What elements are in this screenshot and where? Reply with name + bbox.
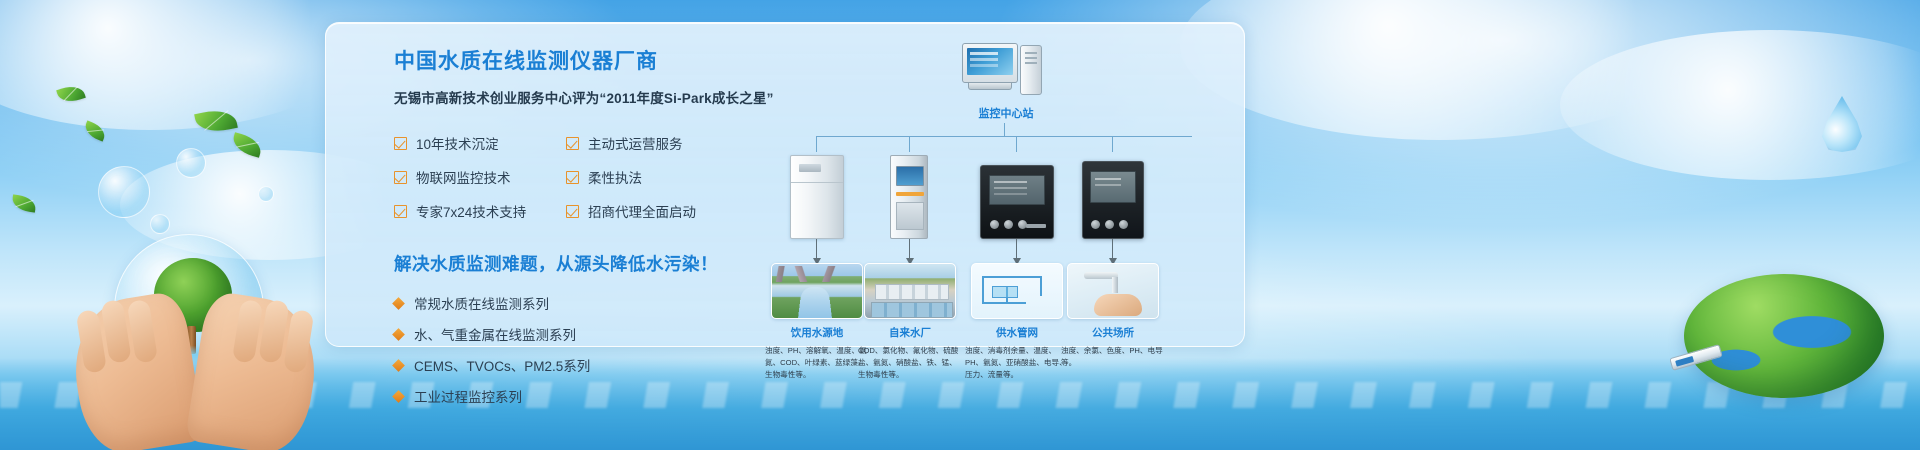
leaf-icon — [230, 132, 264, 158]
rack-analyzer-device — [890, 155, 928, 239]
connector-line — [909, 136, 910, 152]
scene-description: COD、氯化物、氟化物、硫酸盐、氨氮、硝酸盐、铁、锰、生物毒性等。 — [858, 345, 962, 380]
diamond-bullet-icon — [392, 297, 405, 310]
checklist-item-label: 10年技术沉淀 — [416, 133, 499, 153]
down-arrow-icon — [1016, 239, 1017, 259]
checklist-item: 10年技术沉淀 — [394, 133, 566, 153]
down-arrow-icon — [1112, 239, 1113, 259]
tap-water-thumbnail — [1067, 263, 1159, 319]
monitor-screen-decor — [967, 48, 1013, 76]
pipe-network-thumbnail — [971, 263, 1063, 319]
bubble-decor — [176, 148, 206, 178]
checklist-item-label: 主动式运营服务 — [588, 133, 683, 153]
list-item: 水、气重金属在线监测系列 — [394, 324, 784, 344]
wide-controller-device — [980, 165, 1054, 239]
connector-line — [1112, 136, 1113, 152]
check-box-icon — [566, 171, 579, 184]
right-hand-illustration — [185, 290, 325, 450]
banner-text-column: 中国水质在线监测仪器厂商 无锡市高新技术创业服务中心评为“2011年度Si-Pa… — [394, 45, 784, 417]
page-title: 中国水质在线监测仪器厂商 — [394, 45, 784, 75]
monitor-stand-decor — [968, 83, 1012, 90]
cloud-decor — [0, 0, 360, 130]
leaf-icon — [194, 106, 238, 136]
connector-line — [1016, 136, 1017, 152]
list-item: CEMS、TVOCs、PM2.5系列 — [394, 355, 784, 375]
scene-description: 浊度、消毒剂余量、温度、PH、氨氮、亚硝酸盐、电导、压力、流量等。 — [965, 345, 1069, 380]
pc-tower-decor — [1020, 45, 1042, 95]
checklist-item: 主动式运营服务 — [566, 133, 766, 153]
scene-card[interactable]: 饮用水源地 浊度、PH、溶解氧、温度、氨氮、COD、叶绿素、蓝绿藻、生物毒性等。 — [771, 263, 863, 380]
check-box-icon — [394, 137, 407, 150]
check-box-icon — [566, 137, 579, 150]
list-item-label: 工业过程监控系列 — [414, 386, 522, 406]
checklist-item: 柔性执法 — [566, 167, 766, 187]
check-box-icon — [566, 205, 579, 218]
device-row — [766, 153, 1236, 239]
list-item-label: CEMS、TVOCs、PM2.5系列 — [414, 355, 590, 375]
check-box-icon — [394, 171, 407, 184]
checklist-item-label: 柔性执法 — [588, 167, 642, 187]
checklist-item: 物联网监控技术 — [394, 167, 566, 187]
scene-card[interactable]: 供水管网 浊度、消毒剂余量、温度、PH、氨氮、亚硝酸盐、电导、压力、流量等。 — [971, 263, 1063, 380]
water-quality-banner: 中国水质在线监测仪器厂商 无锡市高新技术创业服务中心评为“2011年度Si-Pa… — [0, 0, 1920, 450]
connector-line — [816, 136, 1192, 137]
monitor-decor — [962, 43, 1018, 83]
list-item: 常规水质在线监测系列 — [394, 293, 784, 313]
checklist-item: 招商代理全面启动 — [566, 201, 766, 221]
scene-card[interactable]: 自来水厂 COD、氯化物、氟化物、硫酸盐、氨氮、硝酸盐、铁、锰、生物毒性等。 — [864, 263, 956, 380]
list-item-label: 常规水质在线监测系列 — [414, 293, 549, 313]
scene-title: 自来水厂 — [864, 325, 956, 340]
product-series-list: 常规水质在线监测系列 水、气重金属在线监测系列 CEMS、TVOCs、PM2.5… — [394, 293, 784, 406]
cabinet-analyzer-device — [790, 155, 844, 239]
diamond-bullet-icon — [392, 359, 405, 372]
feature-checklist: 10年技术沉淀 主动式运营服务 物联网监控技术 柔性执法 专家7x24技术支持 — [394, 133, 784, 221]
page-subtitle: 无锡市高新技术创业服务中心评为“2011年度Si-Park成长之星” — [394, 87, 784, 107]
cloud-decor — [1560, 30, 1920, 180]
connector-line — [1004, 123, 1005, 137]
river-source-thumbnail — [771, 263, 863, 319]
leaf-icon — [82, 120, 108, 141]
scene-description: 浊度、PH、溶解氧、温度、氨氮、COD、叶绿素、蓝绿藻、生物毒性等。 — [765, 345, 869, 380]
check-box-icon — [394, 205, 407, 218]
solution-heading: 解决水质监测难题，从源头降低水污染！ — [394, 251, 784, 276]
list-item: 工业过程监控系列 — [394, 386, 784, 406]
list-item-label: 水、气重金属在线监测系列 — [414, 324, 576, 344]
scene-title: 公共场所 — [1067, 325, 1159, 340]
diamond-bullet-icon — [392, 390, 405, 403]
checklist-item-label: 招商代理全面启动 — [588, 201, 696, 221]
water-plant-thumbnail — [864, 263, 956, 319]
checklist-item-label: 物联网监控技术 — [416, 167, 511, 187]
hands-holding-tree-illustration — [70, 190, 320, 450]
banner-content-card: 中国水质在线监测仪器厂商 无锡市高新技术创业服务中心评为“2011年度Si-Pa… — [325, 22, 1245, 347]
earth-ball-decor — [1684, 274, 1884, 398]
down-arrow-icon — [909, 239, 910, 259]
monitoring-topology-diagram: 监控中心站 — [766, 35, 1236, 347]
checklist-item-label: 专家7x24技术支持 — [416, 201, 526, 221]
checklist-item: 专家7x24技术支持 — [394, 201, 566, 221]
cloud-decor — [1180, 0, 1700, 140]
down-arrow-icon — [816, 239, 817, 259]
leaf-icon — [56, 82, 86, 105]
green-earth-illustration — [1684, 248, 1884, 398]
desktop-computer-icon — [962, 43, 1048, 99]
leaf-icon — [11, 194, 37, 212]
scene-description: 浊度、余氯、色度、PH、电导等。 — [1061, 345, 1165, 369]
diamond-bullet-icon — [392, 328, 405, 341]
water-droplet-icon — [1822, 96, 1862, 152]
scene-card[interactable]: 公共场所 浊度、余氯、色度、PH、电导等。 — [1067, 263, 1159, 369]
connector-line — [816, 136, 817, 152]
scene-title: 供水管网 — [971, 325, 1063, 340]
compact-controller-device — [1082, 161, 1144, 239]
monitoring-center-label: 监控中心站 — [916, 105, 1096, 121]
scene-title: 饮用水源地 — [771, 325, 863, 340]
